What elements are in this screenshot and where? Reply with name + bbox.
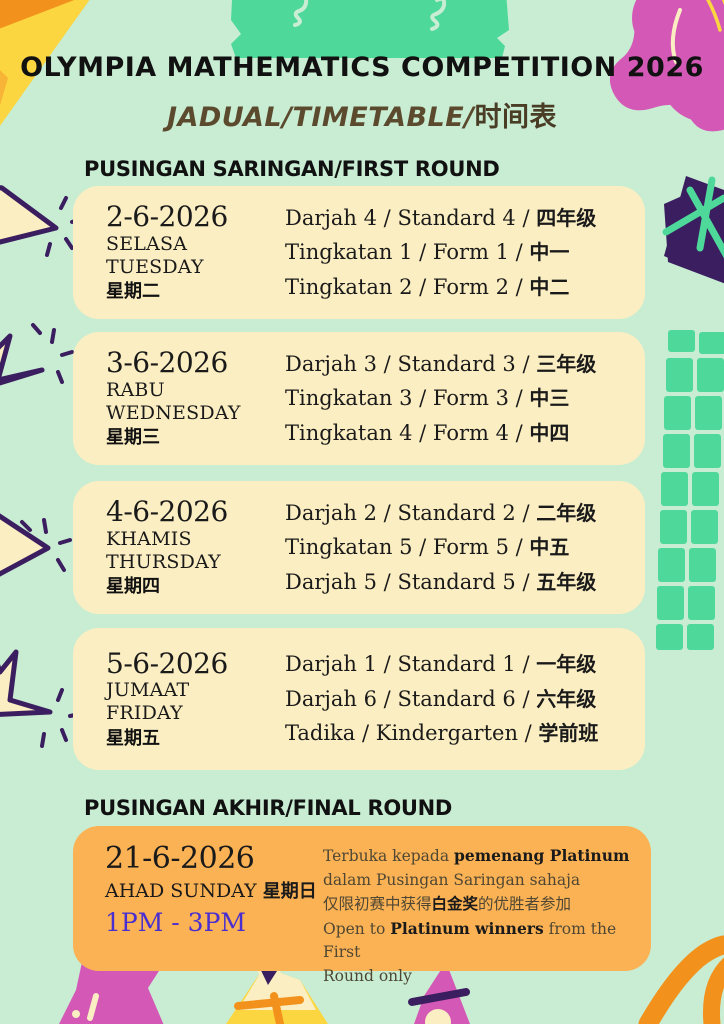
level-en: Standard 3 [397,352,515,376]
final-day: AHAD SUNDAY 星期日 [105,877,323,906]
level-en: Form 3 [433,386,509,410]
level-line: Tingkatan 3 / Form 3 / 中三 [285,381,629,416]
card-day-my: KHAMIS [106,528,285,551]
level-cn: 六年级 [536,687,596,711]
card-day-en: TUESDAY [106,256,285,279]
card-levels-block: Darjah 3 / Standard 3 / 三年级 Tingkatan 3 … [285,347,645,451]
schedule-card: 5-6-2026 JUMAAT FRIDAY 星期五 Darjah 1 / St… [73,628,645,770]
final-day-latin: AHAD SUNDAY [105,880,263,902]
level-en: Standard 4 [397,206,515,230]
card-date: 5-6-2026 [106,648,285,679]
level-my: Tingkatan 1 [285,240,412,264]
level-cn: 四年级 [536,206,596,230]
note-my-emphasis: pemenang Platinum [454,846,629,865]
note-en-prefix: Open to [323,920,390,938]
card-date: 2-6-2026 [106,201,285,232]
note-cn-emphasis: 白金奖 [432,894,479,913]
level-en: Standard 6 [397,687,515,711]
level-cn: 三年级 [536,352,596,376]
level-line: Tingkatan 1 / Form 1 / 中一 [285,235,629,270]
card-day-my: JUMAAT [106,679,285,702]
final-date: 21-6-2026 [105,841,323,877]
level-cn: 中一 [529,240,569,264]
card-day-en: FRIDAY [106,702,285,725]
final-day-cn: 星期日 [263,881,317,902]
card-day-cn: 星期四 [106,575,285,598]
section-header-final-round: PUSINGAN AKHIR/FINAL ROUND [84,796,452,820]
poster-content: OLYMPIA MATHEMATICS COMPETITION 2026 JAD… [0,0,724,1024]
level-cn: 中四 [529,421,569,445]
level-en: Standard 1 [397,652,515,676]
level-my: Tingkatan 5 [285,535,412,559]
level-line: Tadika / Kindergarten / 学前班 [285,716,629,751]
level-my: Tingkatan 2 [285,275,412,299]
page-title: OLYMPIA MATHEMATICS COMPETITION 2026 [0,52,724,83]
level-en: Standard 2 [397,501,515,525]
note-en-emphasis: Platinum winners [390,919,544,938]
level-line: Tingkatan 2 / Form 2 / 中二 [285,270,629,305]
card-day-my: SELASA [106,233,285,256]
level-en: Form 4 [433,421,509,445]
level-cn: 五年级 [536,570,596,594]
subtitle-chinese: 时间表 [475,102,558,133]
level-my: Tingkatan 4 [285,421,412,445]
note-my-prefix: Terbuka kepada [323,847,454,865]
level-en: Form 5 [433,535,509,559]
level-line: Tingkatan 4 / Form 4 / 中四 [285,416,629,451]
card-date: 4-6-2026 [106,496,285,527]
card-date-block: 3-6-2026 RABU WEDNESDAY 星期三 [73,347,285,449]
card-day-cn: 星期二 [106,280,285,303]
level-my: Tadika [285,721,355,745]
final-date-block: 21-6-2026 AHAD SUNDAY 星期日 1PM - 3PM [73,841,323,939]
level-line: Darjah 5 / Standard 5 / 五年级 [285,565,629,600]
card-day-en: THURSDAY [106,551,285,574]
level-en: Form 2 [433,275,509,299]
card-date: 3-6-2026 [106,347,285,378]
level-my: Darjah 4 [285,206,377,230]
level-cn: 学前班 [538,721,598,745]
schedule-card: 2-6-2026 SELASA TUESDAY 星期二 Darjah 4 / S… [73,186,645,319]
final-time: 1PM - 3PM [105,906,323,940]
card-day-cn: 星期五 [106,727,285,750]
level-en: Kindergarten [376,721,518,745]
card-day-en: WEDNESDAY [106,402,285,425]
card-levels-block: Darjah 2 / Standard 2 / 二年级 Tingkatan 5 … [285,496,645,600]
card-date-block: 5-6-2026 JUMAAT FRIDAY 星期五 [73,648,285,750]
level-cn: 一年级 [536,652,596,676]
level-my: Darjah 6 [285,687,377,711]
level-line: Tingkatan 5 / Form 5 / 中五 [285,530,629,565]
card-day-my: RABU [106,379,285,402]
level-my: Darjah 3 [285,352,377,376]
level-line: Darjah 6 / Standard 6 / 六年级 [285,682,629,717]
level-cn: 中三 [529,386,569,410]
card-levels-block: Darjah 4 / Standard 4 / 四年级 Tingkatan 1 … [285,201,645,305]
level-my: Darjah 2 [285,501,377,525]
final-note-cn: 仅限初赛中获得白金奖的优胜者参加 [323,892,641,917]
page-subtitle: JADUAL/TIMETABLE/时间表 [0,95,724,134]
level-cn: 中二 [529,275,569,299]
note-my-line2: dalam Pusingan Saringan sahaja [323,871,580,889]
final-note-block: Terbuka kepada pemenang Platinum dalam P… [323,841,651,988]
note-cn-suffix: 的优胜者参加 [478,895,571,913]
level-cn: 中五 [529,535,569,559]
final-note-en: Open to Platinum winners from the First … [323,917,641,989]
card-levels-block: Darjah 1 / Standard 1 / 一年级 Darjah 6 / S… [285,647,645,751]
level-line: Darjah 3 / Standard 3 / 三年级 [285,347,629,382]
level-line: Darjah 2 / Standard 2 / 二年级 [285,496,629,531]
schedule-card: 3-6-2026 RABU WEDNESDAY 星期三 Darjah 3 / S… [73,332,645,465]
final-round-card: 21-6-2026 AHAD SUNDAY 星期日 1PM - 3PM Terb… [73,826,651,971]
note-cn-prefix: 仅限初赛中获得 [323,895,432,913]
note-en-line2: Round only [323,967,412,985]
level-my: Darjah 1 [285,652,377,676]
level-line: Darjah 4 / Standard 4 / 四年级 [285,201,629,236]
subtitle-latin: JADUAL/TIMETABLE/ [167,102,475,133]
card-date-block: 4-6-2026 KHAMIS THURSDAY 星期四 [73,496,285,598]
card-day-cn: 星期三 [106,426,285,449]
schedule-card: 4-6-2026 KHAMIS THURSDAY 星期四 Darjah 2 / … [73,481,645,614]
level-my: Darjah 5 [285,570,377,594]
level-line: Darjah 1 / Standard 1 / 一年级 [285,647,629,682]
final-note-my: Terbuka kepada pemenang Platinum dalam P… [323,844,641,892]
level-en: Standard 5 [397,570,515,594]
section-header-first-round: PUSINGAN SARINGAN/FIRST ROUND [84,157,499,181]
level-my: Tingkatan 3 [285,386,412,410]
level-cn: 二年级 [536,501,596,525]
card-date-block: 2-6-2026 SELASA TUESDAY 星期二 [73,201,285,303]
level-en: Form 1 [433,240,509,264]
